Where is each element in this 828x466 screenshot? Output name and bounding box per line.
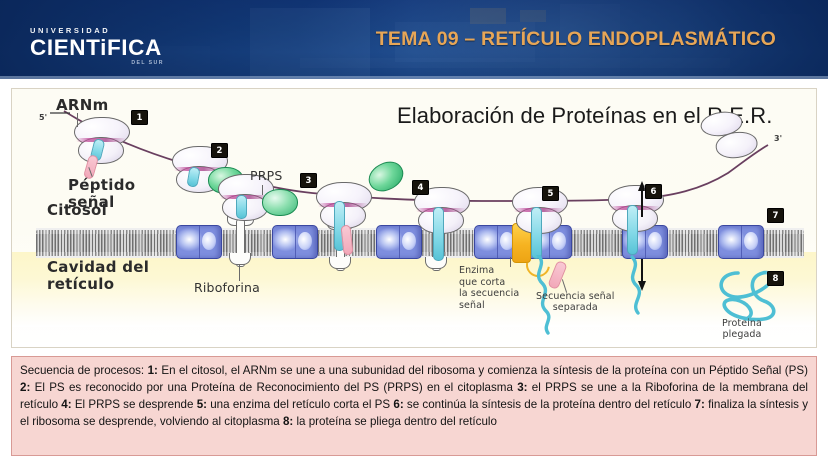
step-badge-1: 1 <box>131 110 148 125</box>
caption-step-num-5: 5: <box>197 398 207 411</box>
slide-root: UNIVERSIDAD CIENTiFICA DEL SUR TEMA 09 –… <box>0 0 828 466</box>
caption-step-num-2: 2: <box>20 381 30 394</box>
caption-step-num-1: 1: <box>148 364 158 377</box>
logo-wordmark: CIENTiFICA <box>30 35 162 60</box>
caption-step-num-3: 3: <box>517 381 527 394</box>
header-bottom-rule <box>0 76 828 79</box>
caption-step-text-4: El PRPS se desprende <box>72 398 197 411</box>
caption-step-num-8: 8: <box>283 415 293 428</box>
step-badge-4: 4 <box>412 180 429 195</box>
step-badge-6: 6 <box>645 184 662 199</box>
caption-step-num-6: 6: <box>393 398 403 411</box>
caption-step-num-4: 4: <box>61 398 71 411</box>
step-badge-2: 2 <box>211 143 228 158</box>
diagram-panel: Elaboración de Proteínas en el R.E.R. <box>11 88 817 348</box>
process-sequence-caption: Secuencia de procesos: 1: En el citosol,… <box>11 356 817 456</box>
caption-step-text-1: En el citosol, el ARNm se une a una subu… <box>158 364 808 377</box>
logo-line-delsur: DEL SUR <box>131 61 163 66</box>
logo-line-cientifica: CIENTiFICA DEL SUR <box>30 37 162 60</box>
caption-step-num-7: 7: <box>695 398 705 411</box>
step-arrows <box>12 89 816 347</box>
step-badge-5: 5 <box>542 186 559 201</box>
page-title: TEMA 09 – RETÍCULO ENDOPLASMÁTICO <box>376 28 776 51</box>
caption-step-text-2: El PS es reconocido por una Proteína de … <box>30 381 517 394</box>
step-badge-8: 8 <box>767 271 784 286</box>
university-logo: UNIVERSIDAD CIENTiFICA DEL SUR <box>30 27 162 59</box>
caption-step-text-6: se continúa la síntesis de la proteína d… <box>404 398 695 411</box>
header-banner: UNIVERSIDAD CIENTiFICA DEL SUR TEMA 09 –… <box>0 0 828 79</box>
caption-step-text-5: una enzima del retículo corta el PS <box>207 398 393 411</box>
logo-line-universidad: UNIVERSIDAD <box>30 27 162 35</box>
caption-step-text-8: la proteína se pliega dentro del retícul… <box>293 415 497 428</box>
step-badge-7: 7 <box>767 208 784 223</box>
step-badge-3: 3 <box>300 173 317 188</box>
caption-intro: Secuencia de procesos: <box>20 364 144 377</box>
